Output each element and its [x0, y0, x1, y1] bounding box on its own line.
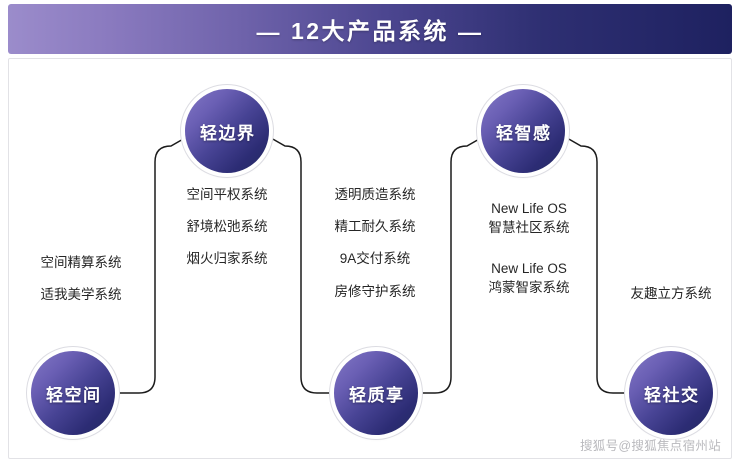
item-line1: New Life OS — [457, 199, 601, 218]
item-line1: New Life OS — [457, 259, 601, 278]
node-label: 轻质享 — [348, 381, 405, 406]
header-banner: —12大产品系统— — [8, 4, 732, 54]
item-line1: 烟火归家系统 — [161, 250, 293, 268]
node-qingshejiao[interactable]: 轻社交 — [629, 351, 713, 435]
node-label: 轻空间 — [45, 381, 102, 406]
list-item: New Life OS 智慧社区系统 — [457, 199, 601, 237]
list-item: 适我美学系统 — [15, 286, 147, 304]
node-label: 轻智感 — [495, 119, 552, 144]
item-list-qingbianjie: 空间平权系统 舒境松弛系统 烟火归家系统 — [161, 186, 293, 269]
title-dash-right-icon: — — [449, 19, 493, 46]
item-line1: 空间平权系统 — [161, 186, 293, 204]
node-qingzhixiang[interactable]: 轻质享 — [334, 351, 418, 435]
list-item: 空间精算系统 — [15, 254, 147, 272]
list-item: 透明质造系统 — [309, 186, 441, 204]
item-line1: 舒境松弛系统 — [161, 218, 293, 236]
item-line2: 鸿蒙智家系统 — [457, 278, 601, 297]
item-list-qingshejiao: 友趣立方系统 — [609, 285, 732, 303]
node-qingzhigan[interactable]: 轻智感 — [481, 89, 565, 173]
item-line1: 空间精算系统 — [15, 254, 147, 272]
item-line1: 透明质造系统 — [309, 186, 441, 204]
list-item: 9A交付系统 — [309, 250, 441, 268]
list-item: 舒境松弛系统 — [161, 218, 293, 236]
item-list-qingzhigan: New Life OS 智慧社区系统 New Life OS 鸿蒙智家系统 — [457, 199, 601, 298]
list-item: 精工耐久系统 — [309, 218, 441, 236]
item-line2: 智慧社区系统 — [457, 218, 601, 237]
page-title: —12大产品系统— — [247, 12, 492, 46]
item-line1: 9A交付系统 — [309, 250, 441, 268]
item-list-qingkongjian: 空间精算系统 适我美学系统 — [15, 254, 147, 304]
item-line1: 适我美学系统 — [15, 286, 147, 304]
watermark: 搜狐号@搜狐焦点宿州站 — [580, 435, 721, 454]
list-item: 友趣立方系统 — [609, 285, 732, 303]
product-system-diagram: —12大产品系统— 轻空间 轻边界 轻质享 — [0, 0, 740, 467]
node-label: 轻社交 — [643, 381, 700, 406]
item-line1: 房修守护系统 — [309, 283, 441, 301]
node-qingbianjie[interactable]: 轻边界 — [185, 89, 269, 173]
title-dash-left-icon: — — [247, 19, 291, 46]
item-list-qingzhixiang: 透明质造系统 精工耐久系统 9A交付系统 房修守护系统 — [309, 186, 441, 301]
title-text: 12大产品系统 — [291, 18, 449, 44]
list-item: 烟火归家系统 — [161, 250, 293, 268]
list-item: 房修守护系统 — [309, 283, 441, 301]
node-label: 轻边界 — [199, 119, 256, 144]
node-qingkongjian[interactable]: 轻空间 — [31, 351, 115, 435]
item-line1: 友趣立方系统 — [609, 285, 732, 303]
item-line1: 精工耐久系统 — [309, 218, 441, 236]
diagram-canvas: 轻空间 轻边界 轻质享 轻智感 轻社交 空间精算系统 适我美学系统 空间平权系统 — [8, 58, 732, 459]
list-item: New Life OS 鸿蒙智家系统 — [457, 259, 601, 297]
list-item: 空间平权系统 — [161, 186, 293, 204]
